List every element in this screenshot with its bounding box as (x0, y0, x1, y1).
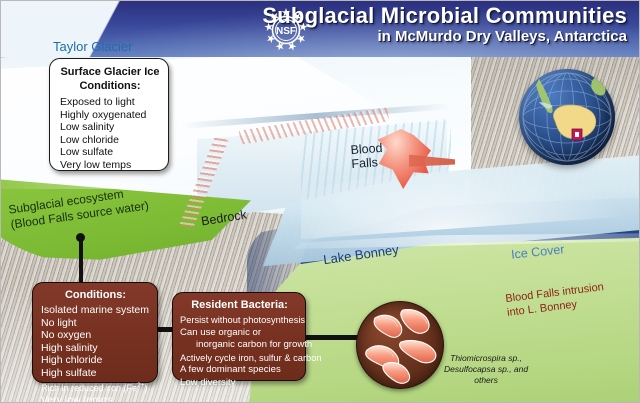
species-line1: Thiomicrospira sp., (444, 353, 528, 364)
bacteria-box-heading: Resident Bacteria: (180, 299, 299, 312)
list-item: High chloride (41, 354, 150, 367)
list-item: Low salinity (60, 121, 160, 134)
label-bacteria-species: Thiomicrospira sp., Desulfocapsa sp., an… (444, 353, 528, 386)
list-item: Low diversity (180, 377, 299, 390)
nsf-logo-icon: NSF (263, 7, 309, 53)
list-item: No oxygen (41, 329, 150, 342)
list-item-iron: Rich in reduced iron (Fe2+) (41, 380, 150, 395)
infographic-poster: NSF Subglacial Microbial Communities in … (0, 0, 640, 403)
page-subtitle: in McMurdo Dry Valleys, Antarctica (262, 28, 627, 46)
list-item: Very low temps (41, 394, 150, 403)
list-item: Very low temps (60, 159, 160, 172)
bacteria-micrograph (356, 301, 444, 389)
surface-glacier-conditions-box: Surface Glacier Ice Conditions: Exposed … (49, 58, 169, 171)
surface-box-heading-line2: Conditions: (60, 80, 160, 93)
list-item: Isolated marine system (41, 304, 150, 317)
bacteria-cells-graphic (357, 302, 443, 388)
list-item: Low chloride (60, 134, 160, 147)
list-item: Low sulfate (60, 146, 160, 159)
species-line2: Desulfocapsa sp., and (444, 364, 528, 375)
label-blood-falls-line1: Blood (350, 141, 383, 157)
list-item: inorganic carbon for growth (180, 339, 299, 352)
list-item: Persist without photosynthesis (180, 314, 299, 327)
globe-graphic (519, 69, 615, 165)
bacteria-box-list: Persist without photosynthesis Can use o… (180, 314, 299, 390)
label-taylor-glacier: Taylor Glacier (53, 39, 132, 54)
leader-line-subglacial (79, 237, 83, 283)
list-item: Highly oxygenated (60, 109, 160, 122)
list-item: High salinity (41, 342, 150, 355)
conditions-box-list: Isolated marine system No light No oxyge… (41, 304, 150, 403)
label-blood-falls-line2: Falls (351, 155, 384, 171)
page-title: Subglacial Microbial Communities (262, 4, 627, 28)
list-item: No light (41, 317, 150, 330)
list-item: Actively cycle iron, sulfur & carbon (180, 352, 299, 365)
subglacial-conditions-box: Conditions: Isolated marine system No li… (32, 282, 158, 383)
list-item: Exposed to light (60, 96, 160, 109)
list-item: High sulfate (41, 367, 150, 380)
species-line3: others (444, 375, 528, 386)
resident-bacteria-box: Resident Bacteria: Persist without photo… (172, 292, 306, 381)
surface-box-list: Exposed to light Highly oxygenated Low s… (60, 96, 160, 172)
label-blood-falls: Blood Falls (350, 141, 384, 171)
list-item: A few dominant species (180, 364, 299, 377)
nsf-seal-graphic: NSF (263, 7, 309, 53)
nsf-logo-text: NSF (276, 26, 296, 37)
antarctica-globe-inset (519, 69, 615, 165)
conditions-box-heading: Conditions: (41, 289, 150, 302)
surface-box-heading-line1: Surface Glacier Ice (60, 66, 160, 79)
poster-title-block: Subglacial Microbial Communities in McMu… (262, 4, 627, 46)
list-item: Can use organic or (180, 327, 299, 340)
